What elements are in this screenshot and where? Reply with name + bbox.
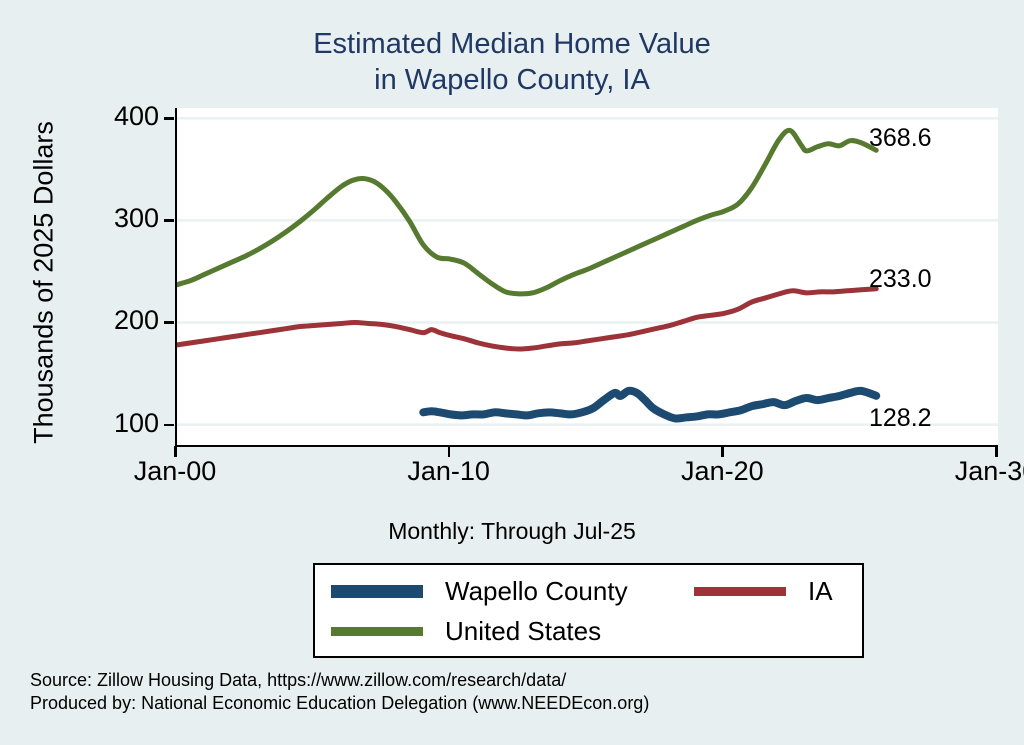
- chart-title: Estimated Median Home Value in Wapello C…: [0, 26, 1024, 98]
- x-tick-label: Jan-00: [134, 456, 217, 487]
- legend-label-united-states: United States: [445, 616, 601, 647]
- legend-swatch-wapello-county: [331, 585, 423, 598]
- y-axis-label: Thousands of 2025 Dollars: [29, 98, 60, 468]
- legend-swatch-ia: [694, 587, 786, 596]
- y-tick-mark: [164, 117, 174, 120]
- x-axis-subcaption: Monthly: Through Jul-25: [0, 518, 1024, 545]
- chart-title-line-2: in Wapello County, IA: [0, 62, 1024, 98]
- y-tick-mark: [164, 321, 174, 324]
- end-label-wapello: 128.2: [869, 404, 932, 433]
- series-endpoint-marker: [873, 392, 880, 399]
- legend-swatch-united-states: [331, 627, 423, 636]
- legend-label-ia: IA: [808, 576, 833, 607]
- legend-item-ia[interactable]: IA: [694, 571, 833, 611]
- series-line-wapello-county: [423, 391, 876, 419]
- y-tick-mark: [164, 424, 174, 427]
- y-tick-label: 200: [79, 307, 159, 334]
- chart-figure: Estimated Median Home Value in Wapello C…: [0, 0, 1024, 745]
- chart-title-line-1: Estimated Median Home Value: [0, 26, 1024, 62]
- chart-legend: Wapello County United States IA: [313, 563, 864, 658]
- end-label-united-states: 368.6: [869, 124, 932, 153]
- chart-footer: Source: Zillow Housing Data, https://www…: [30, 669, 649, 715]
- y-tick-label: 400: [79, 103, 159, 130]
- legend-item-united-states[interactable]: United States: [331, 611, 601, 651]
- end-label-iowa: 233.0: [869, 265, 932, 294]
- x-tick-label: Jan-20: [681, 456, 764, 487]
- y-tick-mark: [164, 219, 174, 222]
- footer-source-line: Source: Zillow Housing Data, https://www…: [30, 669, 649, 692]
- series-line-ia: [177, 289, 876, 349]
- y-tick-label: 100: [79, 410, 159, 437]
- x-tick-label: Jan-10: [407, 456, 490, 487]
- footer-producer-line: Produced by: National Economic Education…: [30, 692, 649, 715]
- x-tick-label: Jan-30: [955, 456, 1024, 487]
- legend-label-wapello-county: Wapello County: [445, 576, 628, 607]
- y-tick-label: 300: [79, 205, 159, 232]
- legend-item-wapello-county[interactable]: Wapello County: [331, 571, 628, 611]
- series-line-united-states: [177, 130, 876, 294]
